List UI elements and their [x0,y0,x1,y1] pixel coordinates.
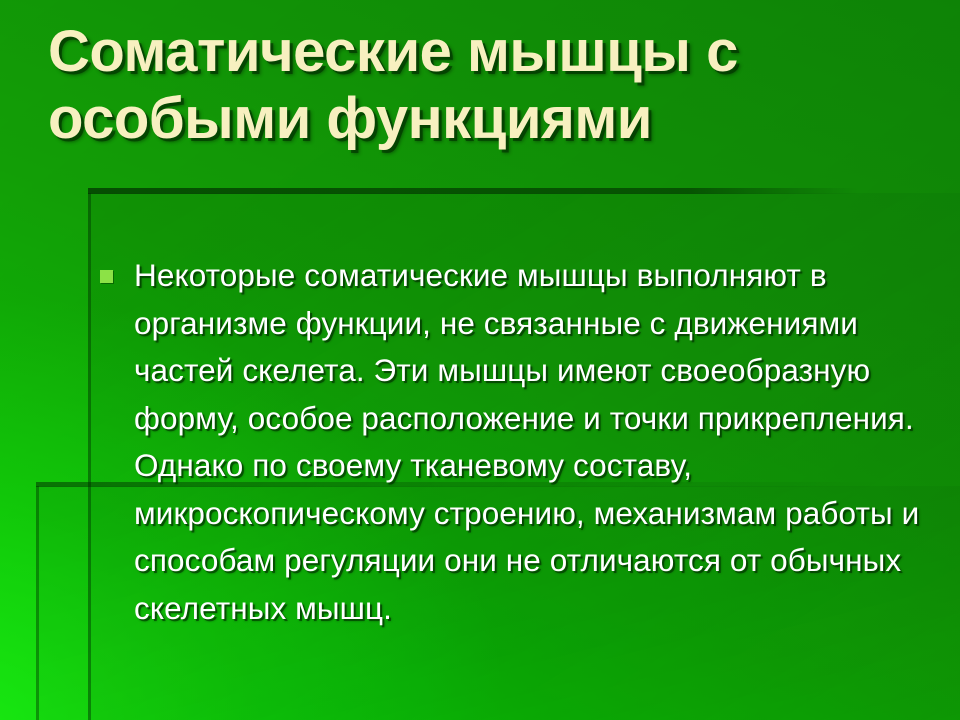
bullet-list-item: Некоторые соматические мышцы выполняют в… [96,252,926,632]
slide-title: Соматические мышцы с особыми функциями [48,18,928,153]
square-bullet-icon [100,270,113,283]
bullet-item-text: Некоторые соматические мышцы выполняют в… [134,257,919,626]
presentation-slide: Соматические мышцы с особыми функциями Н… [0,0,960,720]
slide-body: Некоторые соматические мышцы выполняют в… [96,252,926,632]
